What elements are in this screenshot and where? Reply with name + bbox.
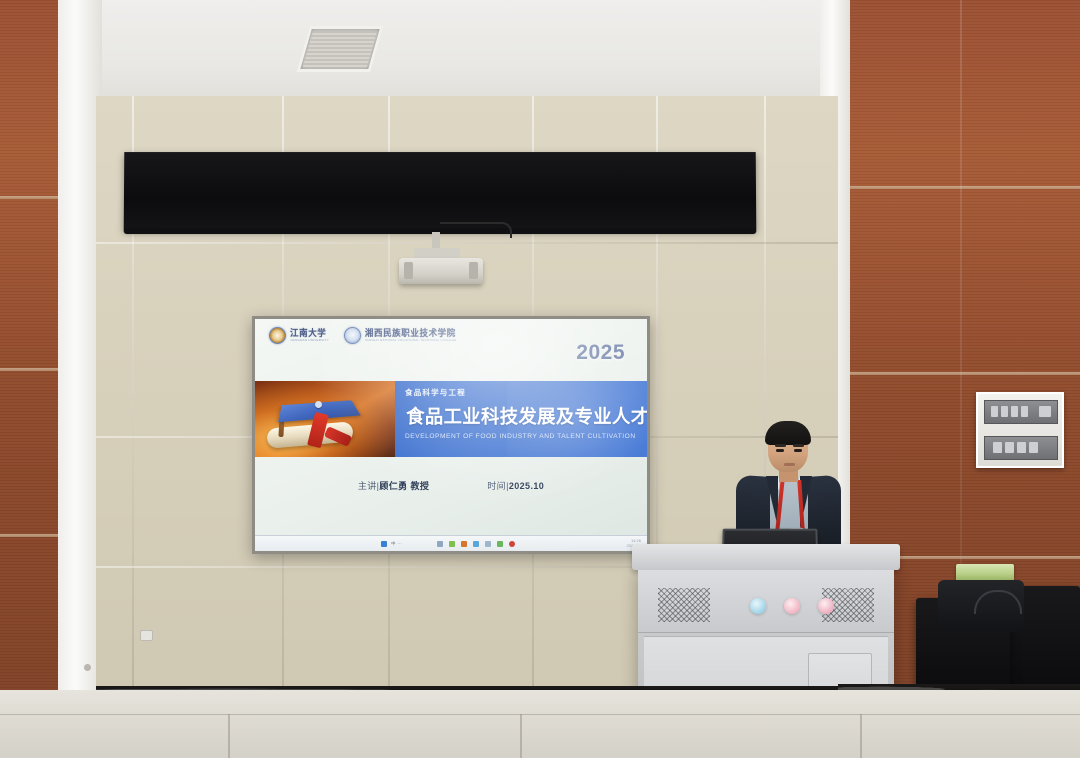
blackout-curtain-box (124, 152, 757, 230)
lectern-front-face (638, 570, 894, 633)
jiangnan-university-logo: 江南大学 JIANGNAN UNIVERSITY (269, 327, 329, 344)
electrical-distribution-panel (976, 392, 1064, 468)
folder-icon[interactable] (437, 541, 443, 547)
notification-icon[interactable] (509, 541, 515, 547)
breaker-row-bottom (984, 436, 1058, 460)
university-seal-icon (269, 327, 286, 344)
decorative-flower-blue (750, 598, 766, 614)
slide-subtitle-en: DEVELOPMENT OF FOOD INDUSTRY AND TALENT … (405, 433, 639, 440)
ceiling-projector (399, 258, 483, 284)
logo-name-cn: 江南大学 (290, 329, 329, 338)
pillar-fixture (84, 664, 91, 671)
cap-button-icon (315, 401, 322, 408)
date-label: 时间| (487, 481, 509, 491)
speaker-grille-left-icon (658, 588, 710, 622)
speaker-name: 顾仁勇 教授 (379, 481, 429, 491)
mouth (784, 463, 795, 466)
decorative-flower-rose (818, 598, 834, 614)
speaker-label: 主讲| (358, 481, 380, 491)
projection-screen-frame: 江南大学 JIANGNAN UNIVERSITY 湘西民族职业技术学院 XIAN… (252, 316, 650, 554)
projected-slide[interactable]: 江南大学 JIANGNAN UNIVERSITY 湘西民族职业技术学院 XIAN… (255, 319, 647, 551)
slide-year: 2025 (576, 341, 625, 365)
windows-taskbar[interactable]: 中 ··· 14:26 2025/10 (255, 535, 647, 551)
windows-start-icon[interactable] (381, 541, 387, 547)
browser-icon[interactable] (473, 541, 479, 547)
speaker-info: 主讲|顾仁勇 教授 (358, 479, 429, 492)
college-seal-icon (344, 327, 361, 344)
hair (765, 421, 811, 445)
logo-name-cn: 湘西民族职业技术学院 (365, 329, 457, 338)
breaker-row-top (984, 400, 1058, 424)
slide-kicker: 食品科学与工程 (405, 387, 639, 398)
black-shoulder-bag (938, 580, 1024, 632)
eye-left (776, 449, 784, 452)
xiangxi-vocational-college-logo: 湘西民族职业技术学院 XIANGXI NATIONAL VOCATIONAL T… (344, 327, 457, 344)
wall-power-socket[interactable] (140, 630, 153, 641)
tile-floor (0, 690, 1080, 758)
bag-strap (974, 590, 1022, 614)
wechat-icon[interactable] (449, 541, 455, 547)
ceiling-air-vent-icon (296, 26, 383, 72)
graduation-cap-photo (255, 381, 395, 457)
ime-status-text: 中 ··· (391, 541, 403, 547)
slide-title-text: 食品科学与工程 食品工业科技发展及专业人才培养 DEVELOPMENT OF F… (405, 387, 639, 440)
eyebrow-right (793, 444, 804, 447)
slide-main-title: 食品工业科技发展及专业人才培养 (406, 403, 638, 429)
logo-row: 江南大学 JIANGNAN UNIVERSITY 湘西民族职业技术学院 XIAN… (269, 327, 457, 344)
projector-cable (440, 222, 512, 238)
eye-right (794, 449, 802, 452)
slide-meta-row: 主讲|顾仁勇 教授 时间|2025.10 (255, 479, 647, 492)
lecture-hall-scene: 江南大学 JIANGNAN UNIVERSITY 湘西民族职业技术学院 XIAN… (0, 0, 1080, 758)
mail-icon[interactable] (485, 541, 491, 547)
date-info: 时间|2025.10 (487, 479, 544, 492)
slide-header: 江南大学 JIANGNAN UNIVERSITY 湘西民族职业技术学院 XIAN… (255, 319, 647, 381)
logo-name-en: XIANGXI NATIONAL VOCATIONAL TECHNICAL CO… (365, 339, 457, 342)
eyebrow-left (775, 444, 786, 447)
date-value: 2025.10 (509, 481, 544, 491)
powerpoint-icon[interactable] (461, 541, 467, 547)
logo-name-en: JIANGNAN UNIVERSITY (290, 339, 329, 342)
lectern-worktop (632, 544, 900, 570)
decorative-flower-pink (784, 598, 800, 614)
slide-title-band: 食品科学与工程 食品工业科技发展及专业人才培养 DEVELOPMENT OF F… (255, 381, 647, 457)
antivirus-icon[interactable] (497, 541, 503, 547)
